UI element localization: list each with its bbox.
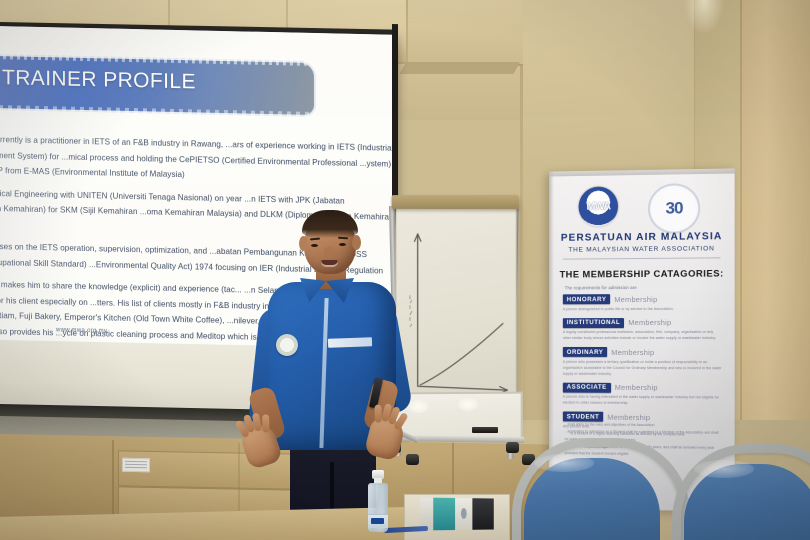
banner-section-subtitle: The requirements for admission are	[565, 285, 637, 290]
cabinet-notice-label	[122, 458, 150, 473]
flipchart-top-rod	[392, 195, 519, 209]
presenter-hair	[302, 210, 358, 238]
water-bottle-left	[368, 470, 388, 532]
slide-title: TRAINER PROFILE	[2, 66, 196, 94]
banner-org-subtitle: THE MALAYSIAN WATER ASSOCIATION	[549, 245, 735, 254]
soffit-underside	[400, 62, 520, 74]
presenter-mouth	[321, 260, 338, 267]
slide-paragraph: ...ainer and currently is a practitioner…	[0, 131, 398, 187]
presentation-room-photo: TRAINER PROFILE ...ainer and currently i…	[0, 0, 810, 540]
banner-logo-row: MWA 30	[549, 183, 735, 229]
category-description: A person distinguished in public life or…	[563, 305, 723, 312]
membership-category: INSTITUTIONAL Membership A legally const…	[563, 317, 723, 341]
presenter-ear-left	[299, 236, 308, 251]
membership-category: ASSOCIATE Membership A person who is hav…	[563, 382, 723, 406]
folder-graphic	[461, 508, 467, 519]
category-tag: ORDINARY	[563, 347, 608, 357]
category-description: A person who is having interested in the…	[563, 394, 723, 407]
membership-category: HONORARY Membership A person distinguish…	[563, 294, 723, 312]
document-folders	[420, 497, 494, 530]
banner-section-title: THE MEMBERSHIP CATAGORIES:	[549, 267, 735, 279]
category-word: Membership	[611, 348, 654, 357]
mwa-logo-icon: MWA	[579, 186, 619, 226]
category-tag: HONORARY	[563, 294, 611, 304]
category-description: A person who possesses a tertiary qualif…	[563, 358, 723, 376]
right-wall-panel-outer	[740, 0, 810, 420]
category-description: A legally constituted professional insti…	[563, 329, 723, 341]
presenter-nose	[324, 247, 334, 257]
conference-chair-left	[512, 438, 672, 540]
soffit-drop-box	[406, 0, 523, 66]
category-tag: STUDENT	[563, 412, 604, 422]
presenter-ear-right	[352, 235, 361, 250]
category-tag: INSTITUTIONAL	[563, 318, 625, 328]
anniversary-30-icon: 30	[648, 183, 700, 234]
anniversary-number: 30	[666, 198, 683, 218]
banner-org-name: PERSATUAN AIR MALAYSIA	[549, 231, 735, 244]
whiteboard-eraser	[472, 427, 498, 433]
slide-website-url: www.mwa.org.my	[56, 327, 107, 334]
presenter	[250, 212, 426, 540]
conference-chair-right	[672, 444, 810, 540]
presenter-chest-stripe	[328, 337, 372, 348]
mwa-logo-text: MWA	[586, 200, 610, 212]
presenter-uniform-badge	[276, 334, 298, 356]
category-word: Membership	[615, 383, 658, 392]
banner-divider	[563, 257, 721, 259]
category-word: Membership	[628, 318, 671, 327]
category-word: Membership	[614, 294, 657, 303]
category-tag: ASSOCIATE	[563, 382, 611, 392]
membership-category: ORDINARY Membership A person who possess…	[563, 347, 723, 377]
category-word: Membership	[607, 412, 650, 421]
